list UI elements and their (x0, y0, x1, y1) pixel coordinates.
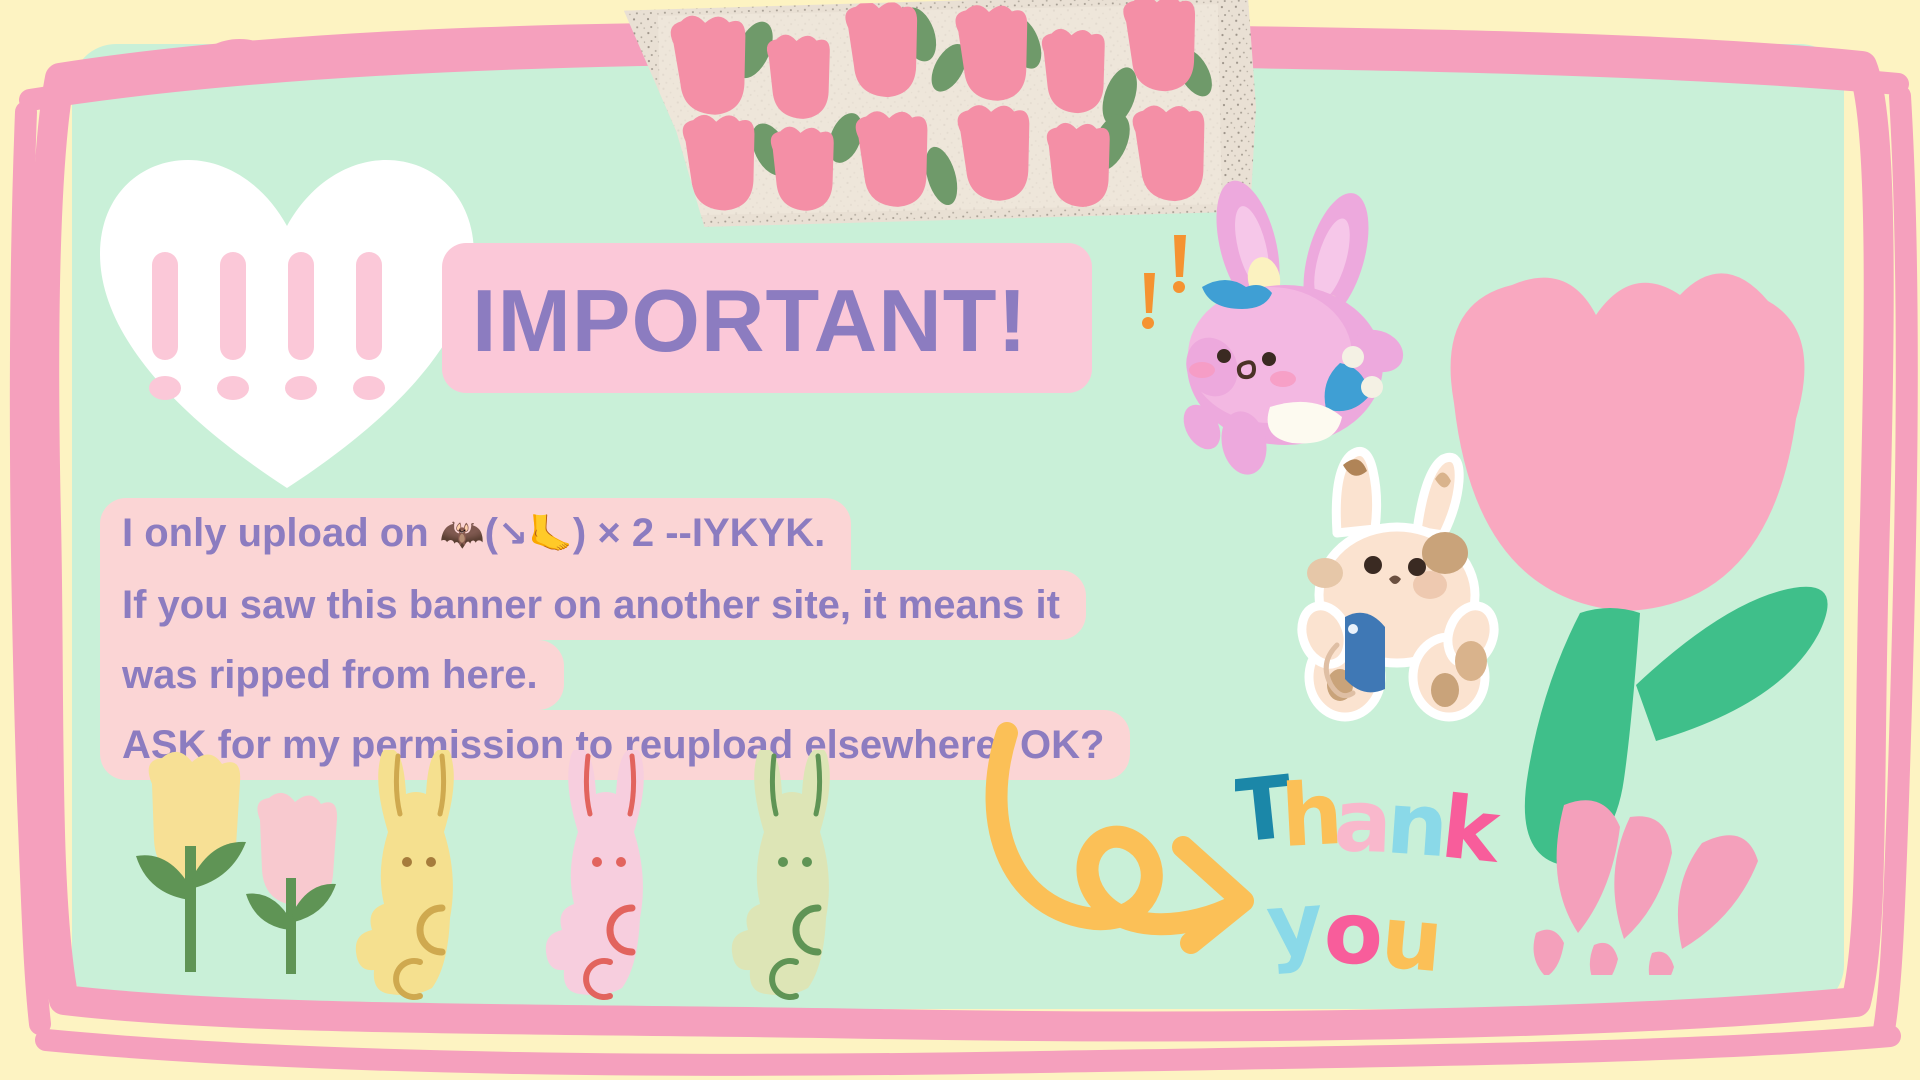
small-tulip-yellow (136, 752, 246, 972)
notice-line-1-mid: ( (485, 511, 498, 555)
banner-canvas: IMPORTANT! I only upload on 🦇(↘🦶) × 2 --… (0, 0, 1920, 1080)
page-title: IMPORTANT! (472, 262, 1092, 380)
thankyou-letter-u: u (1377, 887, 1447, 975)
notice-line-1: I only upload on 🦇(↘🦶) × 2 --IYKYK. (100, 498, 851, 570)
thankyou-letter-k: k (1437, 777, 1506, 883)
heart-with-exclamations-icon (92, 150, 482, 490)
thankyou-letter-o: o (1322, 883, 1385, 975)
notice-line-3: was ripped from here. (100, 640, 564, 710)
flying-bunny-sticker (1140, 175, 1440, 485)
gummy-bunny-yellow (356, 750, 454, 997)
thankyou-letter-y: y (1263, 873, 1326, 975)
small-tulip-pink (246, 793, 337, 974)
arrow-down-right-icon: ↘ (498, 514, 528, 555)
thank-you-lettering: T h a n k y o u (1235, 760, 1555, 975)
gummy-bunny-pink (546, 750, 644, 997)
bat-icon: 🦇 (440, 514, 485, 555)
foot-icon: 🦶 (528, 514, 573, 555)
notice-line-1-prefix: I only upload on (122, 511, 440, 555)
garden-illustration (90, 750, 1010, 1010)
gummy-bunny-green (732, 750, 830, 997)
exclamation-marks-icon (1142, 235, 1186, 329)
notice-line-1-suffix: ) × 2 --IYKYK. (573, 511, 825, 555)
notice-line-2: If you saw this banner on another site, … (100, 570, 1086, 640)
